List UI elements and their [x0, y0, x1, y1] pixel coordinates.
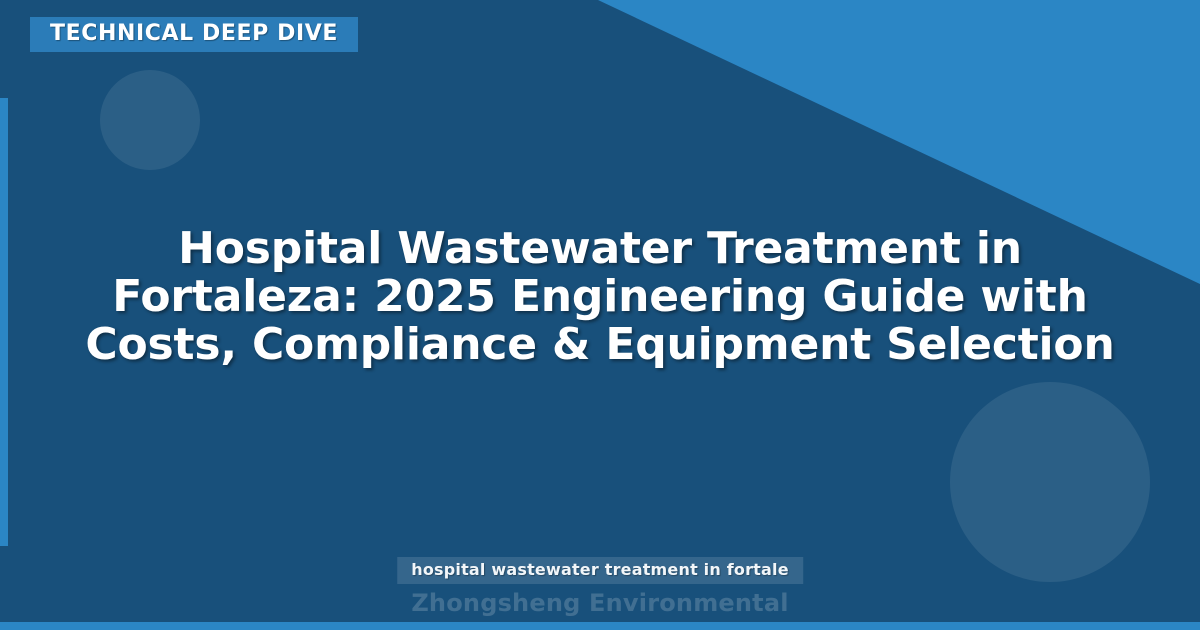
decorative-circle-bottom-right [950, 382, 1150, 582]
page-title: Hospital Wastewater Treatment in Fortale… [60, 225, 1140, 369]
social-share-card: TECHNICAL DEEP DIVE Hospital Wastewater … [0, 0, 1200, 630]
title-block: Hospital Wastewater Treatment in Fortale… [60, 225, 1140, 369]
decorative-circle-top-left [100, 70, 200, 170]
brand-watermark: Zhongsheng Environmental [0, 591, 1200, 615]
bottom-accent-bar [0, 622, 1200, 630]
category-badge: TECHNICAL DEEP DIVE [30, 17, 358, 52]
left-accent-strip [0, 98, 8, 546]
keyword-tag: hospital wastewater treatment in fortale [397, 557, 803, 584]
